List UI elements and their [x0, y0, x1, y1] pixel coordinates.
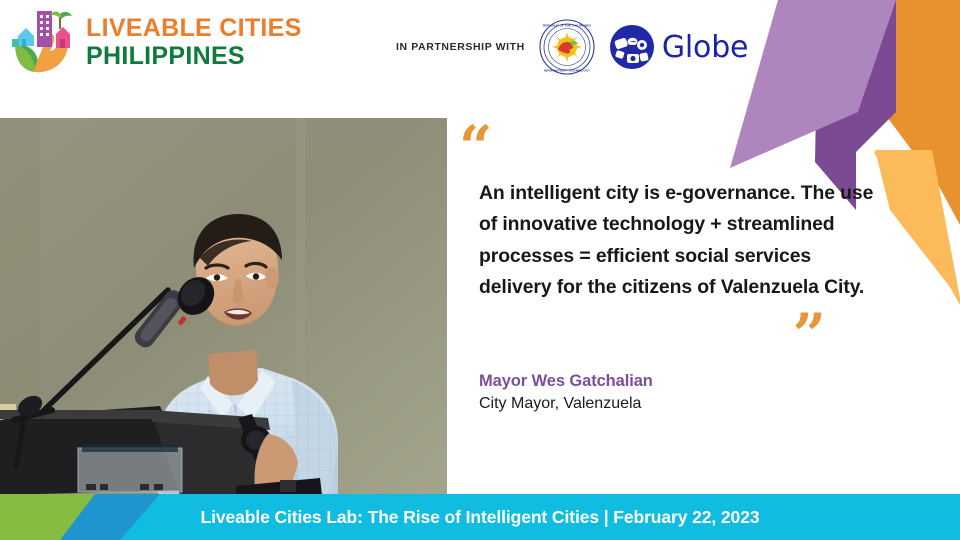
quote-text: An intelligent city is e-governance. The…	[479, 178, 879, 304]
light-orange-shape	[875, 150, 960, 300]
quote-open-mark: “	[459, 130, 880, 164]
partnership-block: IN PARTNERSHIP WITH	[396, 18, 748, 76]
globe-wordmark: Globe	[662, 30, 748, 65]
liveable-cities-hand-leaf-city-logo-icon	[10, 6, 78, 76]
quote-close-mark: ”	[455, 318, 880, 348]
svg-text:REPUBLIC OF THE PHILIPPINES: REPUBLIC OF THE PHILIPPINES	[543, 24, 591, 28]
speaker-photo	[0, 118, 447, 495]
philippines-government-seal-icon: REPUBLIC OF THE PHILIPPINES INFORMATION …	[539, 19, 595, 75]
quote-panel: “ An intelligent city is e-governance. T…	[455, 130, 880, 415]
svg-text:INFORMATION • TECHNOLOGY: INFORMATION • TECHNOLOGY	[544, 68, 591, 72]
footer-bar: Liveable Cities Lab: The Rise of Intelli…	[0, 494, 960, 540]
brand-line-2: PHILIPPINES	[86, 44, 302, 69]
brand-line-1: LIVEABLE CITIES	[86, 16, 302, 41]
quote-attribution: Mayor Wes Gatchalian City Mayor, Valenzu…	[479, 370, 880, 415]
brand-logo[interactable]: LIVEABLE CITIES PHILIPPINES	[10, 6, 302, 76]
partnership-label: IN PARTNERSHIP WITH	[396, 41, 525, 53]
footer-title: Liveable Cities Lab: The Rise of Intelli…	[0, 494, 960, 540]
globe-telecom-logo-icon	[609, 24, 655, 70]
attribution-role: City Mayor, Valenzuela	[479, 393, 880, 415]
slide-canvas: LIVEABLE CITIES PHILIPPINES IN PARTNERSH…	[0, 0, 960, 540]
globe-logo[interactable]: Globe	[609, 24, 748, 70]
attribution-name: Mayor Wes Gatchalian	[479, 370, 880, 392]
header-bar: LIVEABLE CITIES PHILIPPINES IN PARTNERSH…	[0, 0, 740, 108]
light-orange-tail-shape	[874, 150, 960, 305]
brand-wordmark: LIVEABLE CITIES PHILIPPINES	[86, 16, 302, 69]
